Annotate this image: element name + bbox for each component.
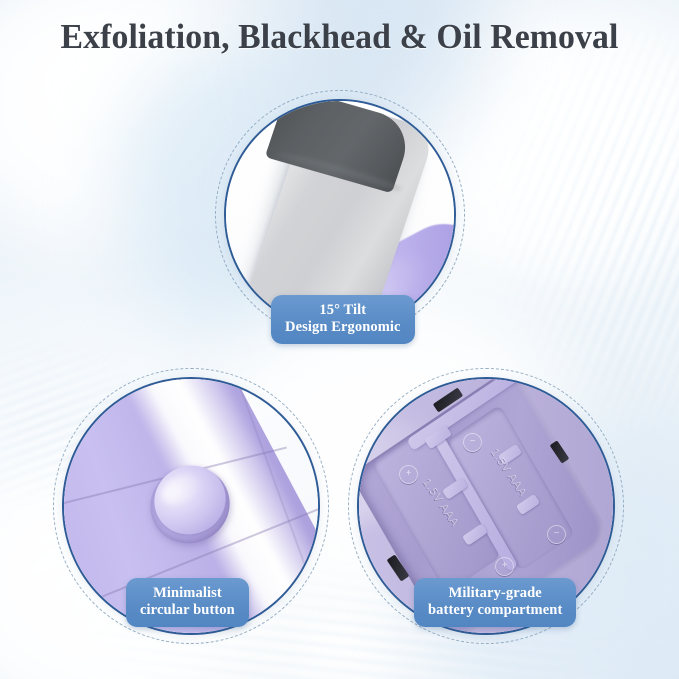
polarity-plus-icon: + [495,557,514,576]
label-line-2: Design Ergonomic [285,319,401,336]
polarity-minus-icon: − [463,433,482,452]
label-battery-compartment: Military-grade battery compartment [414,578,576,627]
polarity-plus-icon: + [399,465,418,484]
label-line-1: Minimalist [140,585,235,602]
label-circular-button: Minimalist circular button [126,578,249,627]
polarity-minus-icon: − [547,525,566,544]
product-feature-poster: Exfoliation, Blackhead & Oil Removal [0,0,679,679]
label-line-1: Military-grade [428,585,562,602]
label-line-1: 15° Tilt [285,302,401,319]
poster-title: Exfoliation, Blackhead & Oil Removal [12,17,667,57]
label-line-2: battery compartment [428,602,562,619]
label-line-2: circular button [140,602,235,619]
label-tilt-design: 15° Tilt Design Ergonomic [271,295,415,344]
